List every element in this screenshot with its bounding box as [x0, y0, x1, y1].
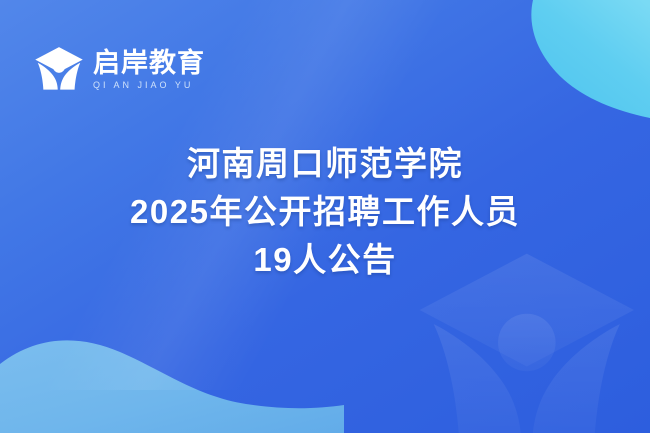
brand-name-cn: 启岸教育	[93, 49, 205, 78]
poster-headline: 河南周口师范学院 2025年公开招聘工作人员 19人公告	[0, 140, 650, 284]
headline-line-2: 2025年公开招聘工作人员	[26, 188, 624, 236]
headline-line-1: 河南周口师范学院	[26, 140, 624, 188]
graduation-cap-icon	[34, 44, 84, 94]
brand-logo: 启岸教育 QI AN JIAO YU	[34, 44, 205, 94]
headline-line-3: 19人公告	[26, 236, 624, 284]
recruitment-announcement-poster: 启岸教育 QI AN JIAO YU 河南周口师范学院 2025年公开招聘工作人…	[0, 0, 650, 433]
top-right-blob-shape	[531, 0, 650, 118]
brand-wordmark: 启岸教育 QI AN JIAO YU	[93, 48, 205, 91]
bottom-left-wave-shape	[0, 340, 344, 433]
brand-name-en: QI AN JIAO YU	[93, 81, 205, 90]
